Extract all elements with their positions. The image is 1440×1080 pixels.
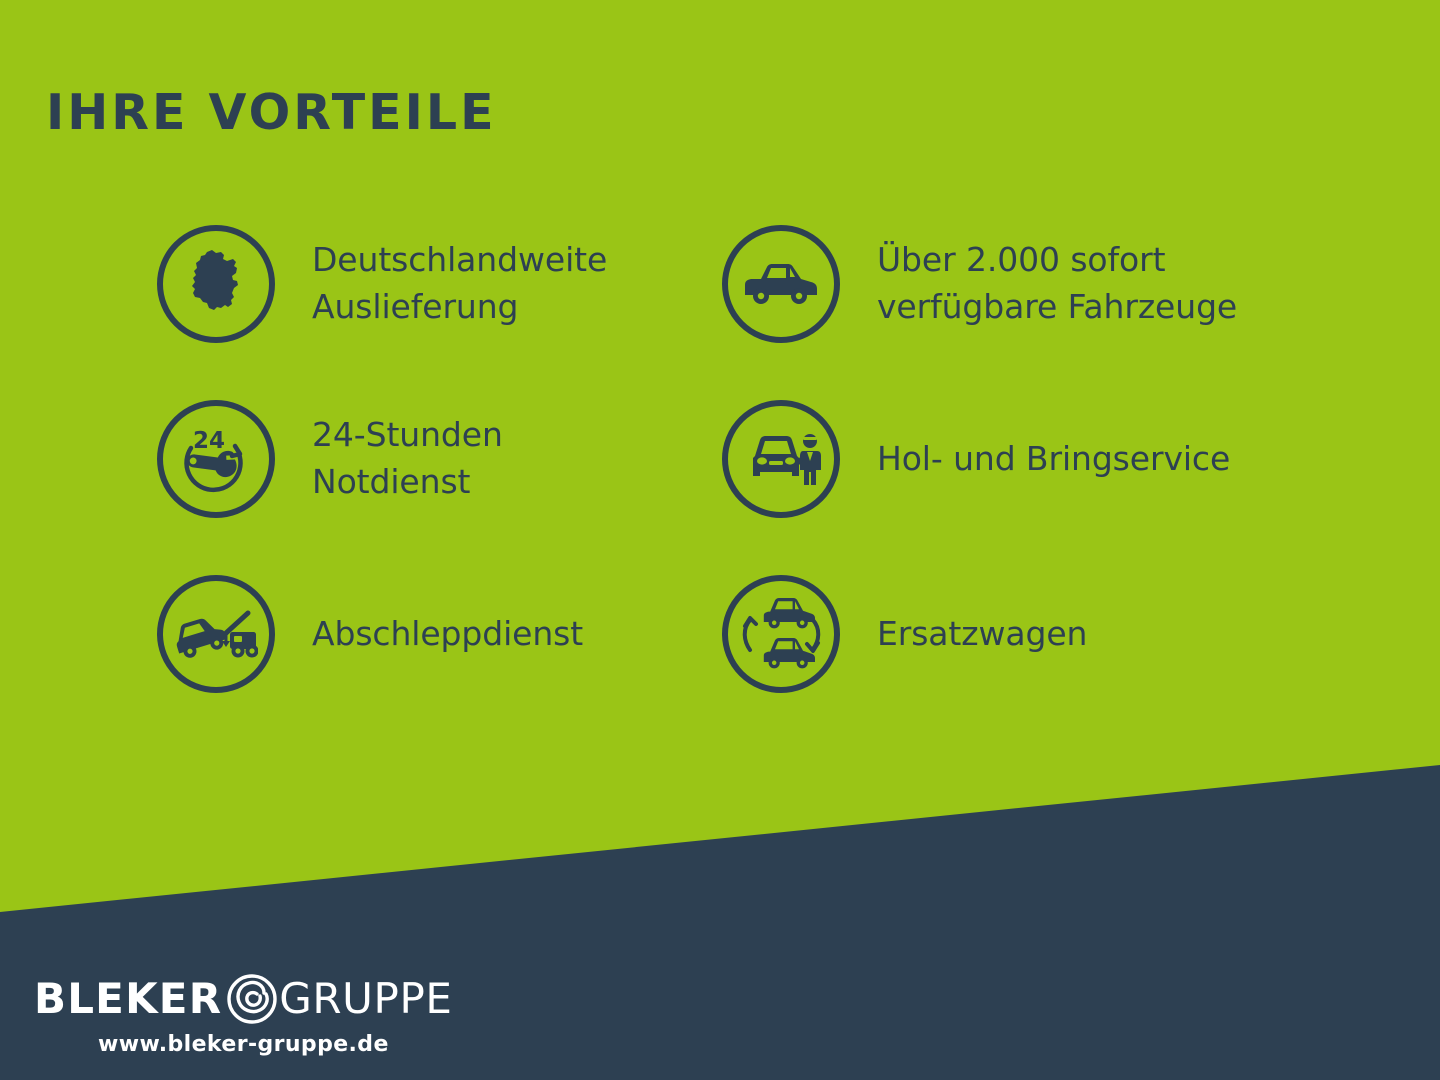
car-side-icon [722, 225, 840, 343]
logo-name-bold: BLEKER [34, 978, 222, 1020]
logo-wordmark: BLEKER GRUPPE [34, 972, 453, 1026]
car-with-person-icon [722, 400, 840, 518]
spiral-icon [226, 973, 278, 1025]
benefit-label: Abschleppdienst [312, 611, 583, 658]
car-exchange-icon [722, 575, 840, 693]
benefit-item-24-stunden-notdienst: 24 24-Stunden Notdienst [157, 400, 503, 518]
24-hour-wrench-icon: 24 [157, 400, 275, 518]
logo-name-light: GRUPPE [279, 978, 452, 1020]
benefit-label: 24-Stunden Notdienst [312, 412, 503, 506]
logo-website-url: www.bleker-gruppe.de [98, 1032, 453, 1057]
benefit-item-abschleppdienst: Abschleppdienst [157, 575, 583, 693]
benefits-list: Deutschlandweite Auslieferung Über 2.000… [0, 0, 1440, 1080]
tow-truck-icon [157, 575, 275, 693]
benefit-label: Ersatzwagen [877, 611, 1087, 658]
benefit-item-verfuegbare-fahrzeuge: Über 2.000 sofort verfügbare Fahrzeuge [722, 225, 1237, 343]
slide-canvas: IHRE VORTEILE Deutschlandweite Ausliefer… [0, 0, 1440, 1080]
svg-text:24: 24 [193, 428, 225, 454]
germany-map-icon [157, 225, 275, 343]
benefit-label: Hol- und Bringservice [877, 436, 1230, 483]
brand-logo: BLEKER GRUPPE www.bleker-gruppe.de [34, 972, 453, 1057]
benefit-label: Deutschlandweite Auslieferung [312, 237, 607, 331]
benefit-label: Über 2.000 sofort verfügbare Fahrzeuge [877, 237, 1237, 331]
benefit-item-ersatzwagen: Ersatzwagen [722, 575, 1087, 693]
benefit-item-hol-und-bringservice: Hol- und Bringservice [722, 400, 1230, 518]
benefit-item-deutschlandweite-auslieferung: Deutschlandweite Auslieferung [157, 225, 607, 343]
